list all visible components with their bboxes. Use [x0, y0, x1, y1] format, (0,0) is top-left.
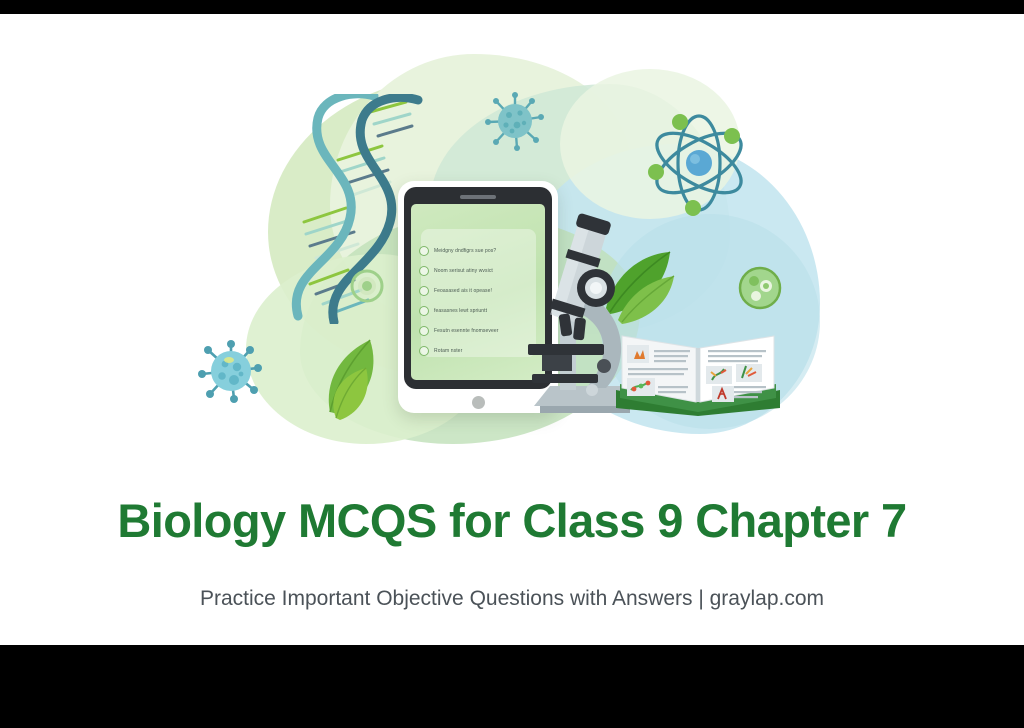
poster-artboard: Meidgny dndfigrs sue pos? Noom serisut a… [0, 14, 1024, 645]
virus-icon-top [484, 90, 546, 157]
leaf-icon-left [322, 336, 408, 425]
quiz-question-text: Noom serisut atiny wvsict [434, 268, 493, 274]
list-item[interactable]: Noom serisut atiny wvsict [419, 266, 493, 276]
check-circle-icon [419, 346, 429, 356]
list-item[interactable]: Meidgny dndfigrs sue pos? [419, 246, 496, 256]
atom-icon [638, 102, 760, 229]
check-circle-icon [419, 286, 429, 296]
quiz-question-text: feasasnes lewt spriuntt [434, 308, 487, 314]
open-book-icon [612, 314, 784, 423]
letterbox-top [0, 0, 1024, 14]
list-item[interactable]: Fesutn esennte fnomseveer [419, 326, 498, 336]
tablet-speaker-icon [460, 195, 496, 199]
quiz-question-text: Rotam nster [434, 348, 462, 354]
list-item[interactable]: feasasnes lewt spriuntt [419, 306, 487, 316]
tablet-home-button[interactable] [472, 396, 485, 409]
quiz-question-text: Feoasased ais it opease! [434, 288, 492, 294]
check-circle-icon [419, 306, 429, 316]
cell-icon-left [350, 269, 384, 308]
list-item[interactable]: Rotam nster [419, 346, 462, 356]
page-subtitle: Practice Important Objective Questions w… [0, 587, 1024, 611]
letterbox-bottom [0, 645, 1024, 728]
check-circle-icon [419, 266, 429, 276]
check-circle-icon [419, 246, 429, 256]
quiz-question-text: Meidgny dndfigrs sue pos? [434, 248, 496, 254]
page-title: Biology MCQS for Class 9 Chapter 7 [0, 493, 1024, 548]
virus-icon-bottom [196, 336, 266, 411]
list-item[interactable]: Feoasased ais it opease! [419, 286, 492, 296]
poster-canvas: Meidgny dndfigrs sue pos? Noom serisut a… [0, 0, 1024, 728]
quiz-question-text: Fesutn esennte fnomseveer [434, 328, 498, 334]
cell-icon-right [738, 266, 782, 315]
check-circle-icon [419, 326, 429, 336]
